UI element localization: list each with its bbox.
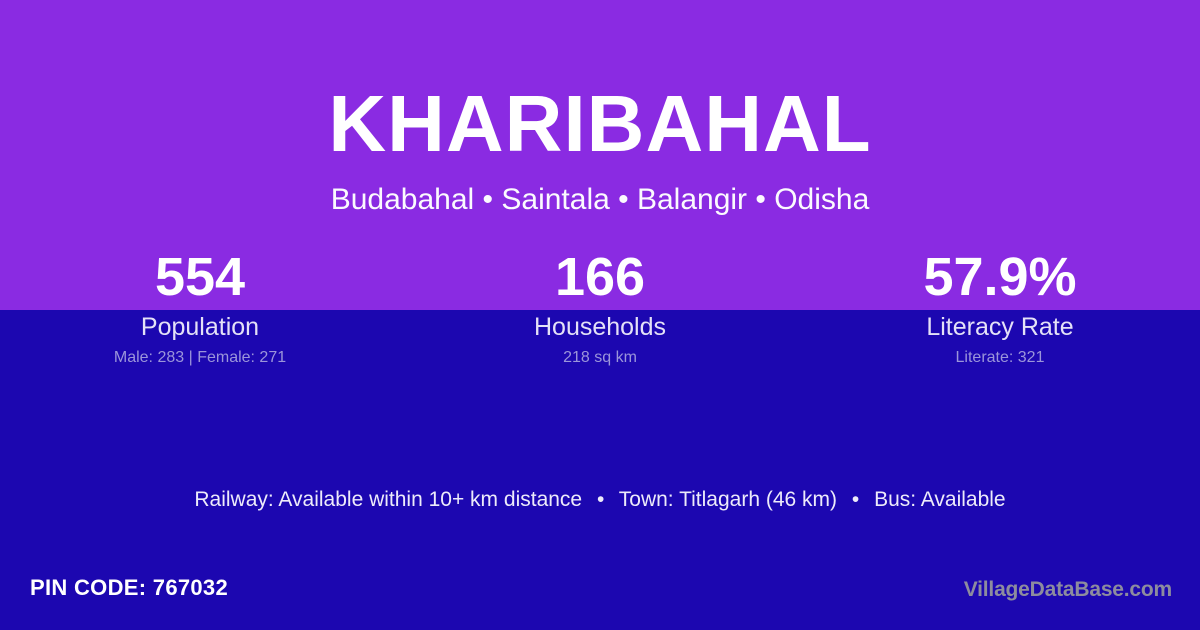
- site-watermark: VillageDataBase.com: [964, 576, 1172, 604]
- stat-literacy-rate-value: 57.9%: [800, 248, 1200, 306]
- page-title: KHARIBAHAL: [0, 84, 1200, 164]
- info-railway: Railway: Available within 10+ km distanc…: [194, 488, 582, 511]
- amenities-info-line: Railway: Available within 10+ km distanc…: [0, 486, 1200, 514]
- info-bus: Bus: Available: [874, 488, 1006, 511]
- info-town: Town: Titlagarh (46 km): [619, 488, 837, 511]
- stat-population: 554 Population Male: 283 | Female: 271: [0, 248, 400, 368]
- pin-code: PIN CODE: 767032: [30, 574, 228, 602]
- stat-literacy-rate: 57.9% Literacy Rate Literate: 321: [800, 248, 1200, 368]
- stat-population-label: Population: [0, 312, 400, 342]
- stat-literacy-rate-sub: Literate: 321: [800, 348, 1200, 368]
- breadcrumb: Budabahal • Saintala • Balangir • Odisha: [0, 182, 1200, 218]
- stat-households: 166 Households 218 sq km: [400, 248, 800, 368]
- stat-population-value: 554: [0, 248, 400, 306]
- stat-households-value: 166: [400, 248, 800, 306]
- stat-literacy-rate-label: Literacy Rate: [800, 312, 1200, 342]
- info-separator-2: •: [843, 486, 868, 514]
- footer: PIN CODE: 767032 VillageDataBase.com: [0, 568, 1200, 630]
- stat-households-label: Households: [400, 312, 800, 342]
- stat-population-sub: Male: 283 | Female: 271: [0, 348, 400, 368]
- stat-households-sub: 218 sq km: [400, 348, 800, 368]
- village-info-card: KHARIBAHAL Budabahal • Saintala • Balang…: [0, 0, 1200, 630]
- info-separator-1: •: [588, 486, 613, 514]
- stats-row: 554 Population Male: 283 | Female: 271 1…: [0, 248, 1200, 368]
